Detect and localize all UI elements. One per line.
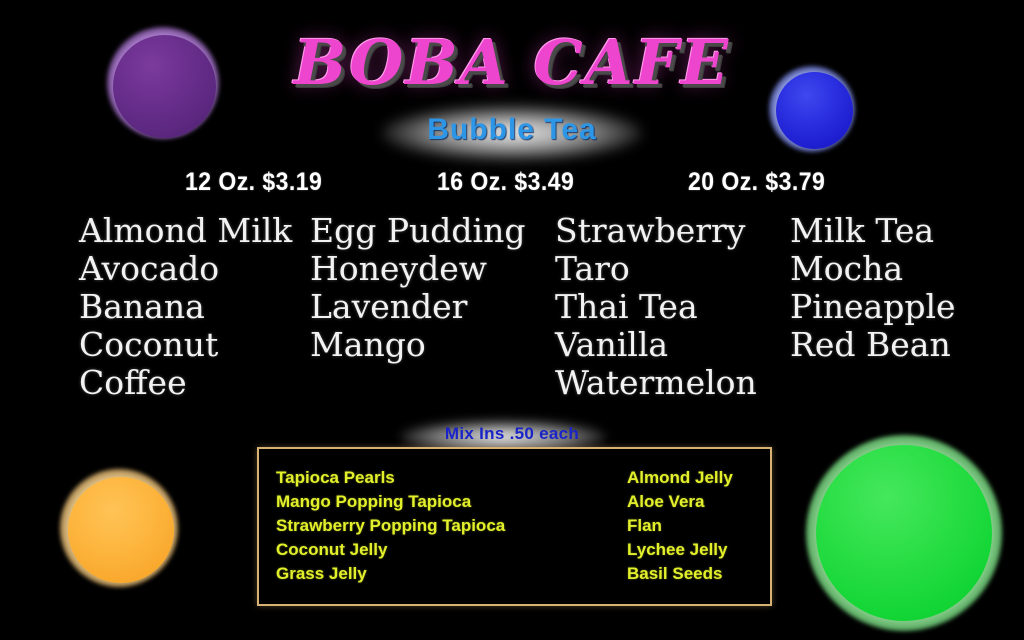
flavor-item: Vanilla [555, 326, 757, 364]
mixin-item: Aloe Vera [627, 490, 733, 514]
mixins-column-1: Tapioca Pearls Mango Popping Tapioca Str… [276, 466, 505, 586]
flavor-item: Almond Milk [79, 212, 292, 250]
flavor-list: Almond Milk Avocado Banana Coconut Coffe… [0, 212, 1024, 412]
flavor-item: Honeydew [310, 250, 525, 288]
flavor-item: Banana [79, 288, 292, 326]
flavor-item: Watermelon [555, 364, 757, 402]
mixin-item: Almond Jelly [627, 466, 733, 490]
flavor-item: Milk Tea [790, 212, 956, 250]
mixin-item: Mango Popping Tapioca [276, 490, 505, 514]
flavor-item: Mango [310, 326, 525, 364]
mixin-item: Tapioca Pearls [276, 466, 505, 490]
mixins-box: Tapioca Pearls Mango Popping Tapioca Str… [257, 447, 772, 606]
flavor-column-1: Almond Milk Avocado Banana Coconut Coffe… [79, 212, 292, 402]
flavor-item: Mocha [790, 250, 956, 288]
flavor-item: Egg Pudding [310, 212, 525, 250]
mixin-item: Flan [627, 514, 733, 538]
mixin-item: Grass Jelly [276, 562, 505, 586]
mixin-item: Coconut Jelly [276, 538, 505, 562]
flavor-item: Red Bean [790, 326, 956, 364]
green-bubble-decoration [806, 435, 1002, 631]
orange-bubble-decoration [60, 469, 178, 587]
flavor-item: Coconut [79, 326, 292, 364]
price-row: 12 Oz. $3.19 16 Oz. $3.49 20 Oz. $3.79 [0, 168, 1024, 198]
flavor-item: Strawberry [555, 212, 757, 250]
flavor-item: Pineapple [790, 288, 956, 326]
mixins-label: Mix Ins .50 each [445, 424, 579, 443]
mixin-item: Lychee Jelly [627, 538, 733, 562]
shop-title: BOBA CAFE [0, 32, 1024, 94]
price-12oz: 12 Oz. $3.19 [185, 168, 322, 197]
green-bubble-body [816, 445, 992, 621]
flavor-column-2: Egg Pudding Honeydew Lavender Mango [310, 212, 525, 364]
flavor-item: Coffee [79, 364, 292, 402]
shop-subtitle-wrap: Bubble Tea [0, 113, 1024, 147]
price-16oz: 16 Oz. $3.49 [437, 168, 574, 197]
orange-bubble-body [68, 477, 174, 583]
shop-subtitle: Bubble Tea [427, 113, 596, 146]
mixins-column-2: Almond Jelly Aloe Vera Flan Lychee Jelly… [627, 466, 733, 586]
menu-board: BOBA CAFE Bubble Tea 12 Oz. $3.19 16 Oz.… [0, 0, 1024, 640]
price-20oz: 20 Oz. $3.79 [688, 168, 825, 197]
flavor-item: Lavender [310, 288, 525, 326]
mixin-item: Basil Seeds [627, 562, 733, 586]
flavor-item: Taro [555, 250, 757, 288]
mixin-item: Strawberry Popping Tapioca [276, 514, 505, 538]
flavor-column-4: Milk Tea Mocha Pineapple Red Bean [790, 212, 956, 364]
flavor-item: Thai Tea [555, 288, 757, 326]
flavor-item: Avocado [79, 250, 292, 288]
flavor-column-3: Strawberry Taro Thai Tea Vanilla Waterme… [555, 212, 757, 402]
